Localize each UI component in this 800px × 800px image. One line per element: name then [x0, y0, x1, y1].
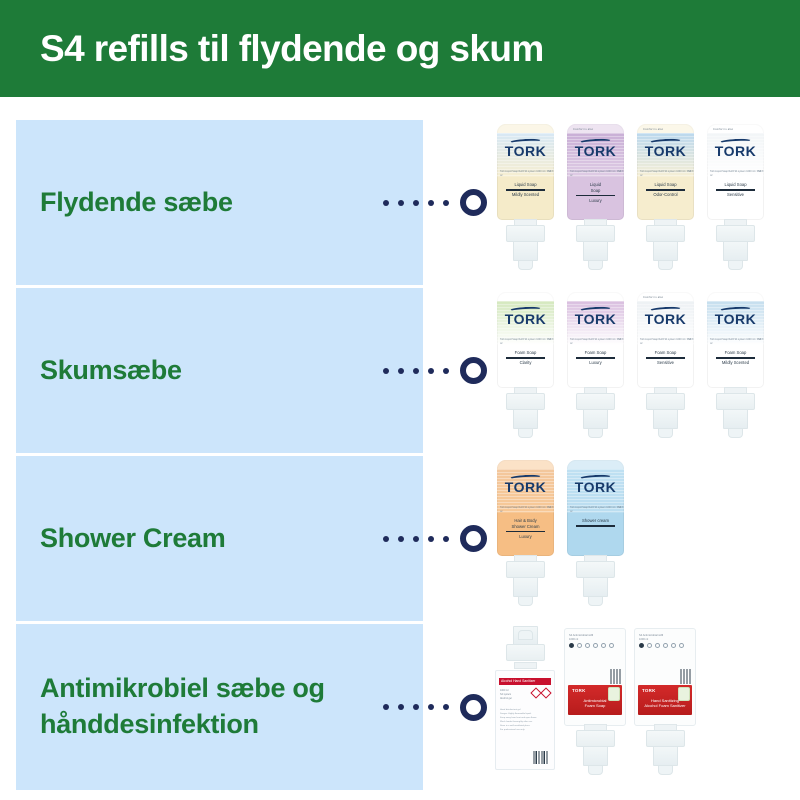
pump-nozzle — [518, 428, 533, 438]
connector-dot — [383, 368, 389, 374]
pump-body — [653, 241, 678, 261]
pump-nozzle — [518, 260, 533, 270]
page-header: S4 refills til flydende og skum — [0, 0, 800, 97]
category-row-antimikrobiel: Antimikrobiel sæbe og hånddesinfektion A… — [0, 624, 800, 790]
hazard-pictograms — [532, 689, 550, 697]
hazard-irritant-icon — [540, 687, 551, 698]
bottle-side-text: Tork Liquid Soap Refill S4 system 1000 m… — [710, 338, 764, 346]
pump-nozzle — [588, 428, 603, 438]
connector-ring-icon — [460, 525, 487, 552]
category-panel: Skumsæbe — [16, 288, 423, 453]
category-label: Antimikrobiel sæbe og hånddesinfektion — [40, 671, 340, 742]
eco-label-icon — [678, 687, 690, 701]
product-bottle: TORK Tork Liquid Soap Refill S4 system 1… — [562, 456, 628, 621]
bottle-product-label: Liquid Soap Mildly Scented — [504, 182, 547, 198]
product-bottle: TORK Tork Liquid Soap Refill S4 system 1… — [492, 456, 558, 621]
bottle-product-type: Liquid Soap — [644, 182, 687, 188]
pump-collar — [576, 393, 615, 410]
bottle-side-text: S4 — [688, 170, 691, 174]
product-bottle: Comfort is also TORK Tork Liquid Soap Re… — [562, 120, 628, 285]
pump-collar — [576, 561, 615, 578]
pump-body — [653, 746, 678, 766]
pump-collar — [646, 393, 685, 410]
tork-logo: TORK — [567, 479, 624, 495]
bottle-side-text: Tork Liquid Soap Refill S4 system 1000 m… — [570, 506, 624, 514]
tork-logo: TORK — [707, 143, 764, 159]
bottle-product-type: Liquid Soap — [714, 182, 757, 188]
category-label: Flydende sæbe — [40, 185, 233, 221]
tork-logo: TORK — [707, 311, 764, 327]
bottle-side-text: Tork Liquid Soap Refill S4 system 1000 m… — [640, 338, 694, 346]
pump-collar — [506, 225, 545, 242]
bottle-side-text: S4 — [618, 506, 621, 510]
product-bottle-group: TORK Tork Liquid Soap Refill S4 system 1… — [492, 456, 792, 621]
bottle-product-label: Foam Soap Clarity — [504, 350, 547, 366]
bottle-side-text: 1000 mlS4 systemAlcohol gel — [500, 689, 534, 701]
pump-collar — [716, 393, 755, 410]
pump-collar — [646, 225, 685, 242]
product-bottle: TORK Tork Liquid Soap Refill S4 system 1… — [702, 288, 768, 453]
connector-dot — [383, 536, 389, 542]
bottle-product-variant: Luxury — [504, 534, 547, 540]
bottle-product-type: Hair & Body Shower Cream — [504, 518, 547, 529]
connector-dot — [398, 368, 404, 374]
bottle-product-label: Liquid Soap Sensitive — [714, 182, 757, 198]
bottle-product-label: Liquid Soap Odor-Control — [644, 182, 687, 198]
product-bottle-group: TORK Tork Liquid Soap Refill S4 system 1… — [492, 120, 792, 285]
bottle-product-variant: Mildly Scented — [504, 192, 547, 198]
product-bottle: TORK Tork Liquid Soap Refill S4 system 1… — [562, 288, 628, 453]
pump-nozzle — [658, 428, 673, 438]
bottle-side-text: Tork Liquid Soap Refill S4 system 1000 m… — [500, 170, 554, 178]
product-bottle: Comfort is also TORK Tork Liquid Soap Re… — [632, 120, 698, 285]
pump-collar — [506, 644, 545, 661]
bottle-product-label: Liquid Soap Luxury — [574, 182, 617, 203]
connector-dot — [443, 200, 449, 206]
product-bottle: S4 Antimicrobial refill1000 ml TORK Anti… — [562, 624, 628, 790]
pump-body — [513, 241, 538, 261]
connector-dots — [383, 356, 487, 386]
connector-dot — [428, 200, 434, 206]
pump-body — [583, 746, 608, 766]
bottle-side-text: S4 — [758, 170, 761, 174]
bottle-product-variant: Sensitive — [714, 192, 757, 198]
pump-nozzle — [588, 260, 603, 270]
bottle-product-label: Shower cream — [574, 518, 617, 528]
tork-logo: TORK — [572, 688, 586, 693]
pump-body — [653, 409, 678, 429]
connector-ring-icon — [460, 357, 487, 384]
bottle-body-text: Hand disinfectant gelDanger. Highly flam… — [500, 709, 550, 733]
pump-body — [583, 241, 608, 261]
bottle-side-text: Tork Liquid Soap Refill S4 system 1000 m… — [500, 338, 554, 346]
connector-dot — [398, 704, 404, 710]
category-panel: Flydende sæbe — [16, 120, 423, 285]
bottle-top-note: S4 Antimicrobial refill1000 ml — [569, 634, 621, 664]
pump-body — [513, 577, 538, 597]
product-bottle-group: TORK Tork Liquid Soap Refill S4 system 1… — [492, 288, 792, 453]
bottle-product-type: Alcohol Hand Sanitizer — [499, 678, 551, 685]
category-label: Shower Cream — [40, 521, 225, 557]
connector-dot — [443, 368, 449, 374]
bottle-product-label: Hair & Body Shower Cream Luxury — [504, 518, 547, 539]
connector-dot — [428, 536, 434, 542]
category-panel: Antimikrobiel sæbe og hånddesinfektion — [16, 624, 423, 790]
eco-label-icon — [608, 687, 620, 701]
pump-collar — [716, 225, 755, 242]
connector-dots — [383, 692, 487, 722]
pump-nozzle — [658, 765, 673, 775]
pump-collar — [506, 393, 545, 410]
bottle-side-text: Tork Liquid Soap Refill S4 system 1000 m… — [500, 506, 554, 514]
tork-logo: TORK — [567, 143, 624, 159]
bottle-product-type: Foam Soap — [644, 350, 687, 356]
product-bottle-group: Alcohol Hand Sanitizer 1000 mlS4 systemA… — [492, 624, 792, 790]
pump-body — [723, 241, 748, 261]
connector-dot — [383, 200, 389, 206]
infographic-page: S4 refills til flydende og skum Flydende… — [0, 0, 800, 800]
bottle-product-type: Foam Soap — [504, 350, 547, 356]
pump-body — [513, 409, 538, 429]
bottle-product-variant: Luxury — [574, 360, 617, 366]
bottle-top-note: Comfort is also — [713, 128, 733, 132]
bottle-product-variant: Mildly Scented — [714, 360, 757, 366]
pump-collar — [646, 730, 685, 747]
connector-dots — [383, 188, 487, 218]
pump-nozzle — [728, 428, 743, 438]
connector-dot — [428, 368, 434, 374]
connector-dots — [383, 524, 487, 554]
bottle-product-variant: Clarity — [504, 360, 547, 366]
pump-nozzle — [728, 260, 743, 270]
connector-dot — [413, 536, 419, 542]
pump-nozzle — [588, 596, 603, 606]
connector-dot — [398, 200, 404, 206]
bottle-top-note: S4 Antimicrobial refill1000 ml — [639, 634, 691, 664]
bottle-side-text: S4 — [548, 338, 551, 342]
product-bottle: S4 Antimicrobial refill1000 ml TORK Hand… — [632, 624, 698, 790]
bottle-product-label: Foam Soap Mildly Scented — [714, 350, 757, 366]
bottle-side-text: S4 — [618, 338, 621, 342]
pump-collar — [576, 730, 615, 747]
bottle-side-text: S4 — [548, 506, 551, 510]
bottle-product-type: Liquid Soap — [504, 182, 547, 188]
bottle-product-label: Alcohol Hand Sanitizer — [499, 678, 551, 685]
bottle-side-text: S4 — [548, 170, 551, 174]
bottle-side-text: S4 — [758, 338, 761, 342]
pump-nozzle — [588, 765, 603, 775]
bottle-product-variant: Odor-Control — [644, 192, 687, 198]
category-panel: Shower Cream — [16, 456, 423, 621]
tork-logo: TORK — [637, 311, 694, 327]
category-row-flydende-saebe: Flydende sæbe TORK Tork Liquid Soap Refi… — [0, 120, 800, 285]
tork-logo: TORK — [567, 311, 624, 327]
connector-ring-icon — [460, 189, 487, 216]
category-label: Skumsæbe — [40, 353, 182, 389]
product-bottle: Comfort is also TORK Tork Liquid Soap Re… — [632, 288, 698, 453]
product-bottle: TORK Tork Liquid Soap Refill S4 system 1… — [492, 120, 558, 285]
page-title: S4 refills til flydende og skum — [40, 28, 544, 70]
bottle-top-note: Comfort is also — [643, 128, 663, 132]
bottle-product-label: Foam Soap Luxury — [574, 350, 617, 366]
bottle-side-text: Tork Liquid Soap Refill S4 system 1000 m… — [710, 170, 764, 178]
connector-dot — [428, 704, 434, 710]
bottle-product-variant: Luxury — [574, 198, 617, 204]
bottle-top-note: Comfort is also — [573, 128, 593, 132]
pump-nozzle — [518, 596, 533, 606]
category-row-shower-cream: Shower Cream TORK Tork Liquid Soap Refil… — [0, 456, 800, 621]
bottle-side-text: S4 — [618, 170, 621, 174]
connector-dot — [413, 200, 419, 206]
connector-ring-icon — [460, 694, 487, 721]
bottle-product-label: Foam Soap Sensitive — [644, 350, 687, 366]
bottle-product-type: Liquid Soap — [574, 182, 617, 193]
pump-nozzle — [658, 260, 673, 270]
tork-logo: TORK — [497, 143, 554, 159]
pump-body — [583, 577, 608, 597]
pump-nozzle — [518, 630, 533, 640]
pump-body — [583, 409, 608, 429]
pump-collar — [506, 561, 545, 578]
bottle-product-type: Foam Soap — [574, 350, 617, 356]
product-bottle: Alcohol Hand Sanitizer 1000 mlS4 systemA… — [492, 624, 558, 790]
pump-body — [723, 409, 748, 429]
bottle-side-text: Tork Liquid Soap Refill S4 system 1000 m… — [570, 170, 624, 178]
product-bottle: TORK Tork Liquid Soap Refill S4 system 1… — [492, 288, 558, 453]
category-row-skumsaebe: Skumsæbe TORK Tork Liquid Soap Refill S4… — [0, 288, 800, 453]
connector-dot — [413, 704, 419, 710]
bottle-top-note: Comfort is also — [643, 296, 663, 300]
connector-dot — [398, 536, 404, 542]
tork-logo: TORK — [497, 311, 554, 327]
pump-collar — [576, 225, 615, 242]
tork-logo: TORK — [642, 688, 656, 693]
bottle-side-text: Tork Liquid Soap Refill S4 system 1000 m… — [640, 170, 694, 178]
bottle-product-variant: Sensitive — [644, 360, 687, 366]
bottle-product-type: Foam Soap — [714, 350, 757, 356]
tork-logo: TORK — [497, 479, 554, 495]
tork-logo: TORK — [637, 143, 694, 159]
connector-dot — [413, 368, 419, 374]
connector-dot — [443, 704, 449, 710]
connector-dot — [383, 704, 389, 710]
bottle-side-text: Tork Liquid Soap Refill S4 system 1000 m… — [570, 338, 624, 346]
product-bottle: Comfort is also TORK Tork Liquid Soap Re… — [702, 120, 768, 285]
bottle-product-type: Shower cream — [574, 518, 617, 524]
connector-dot — [443, 536, 449, 542]
bottle-side-text: S4 — [688, 338, 691, 342]
